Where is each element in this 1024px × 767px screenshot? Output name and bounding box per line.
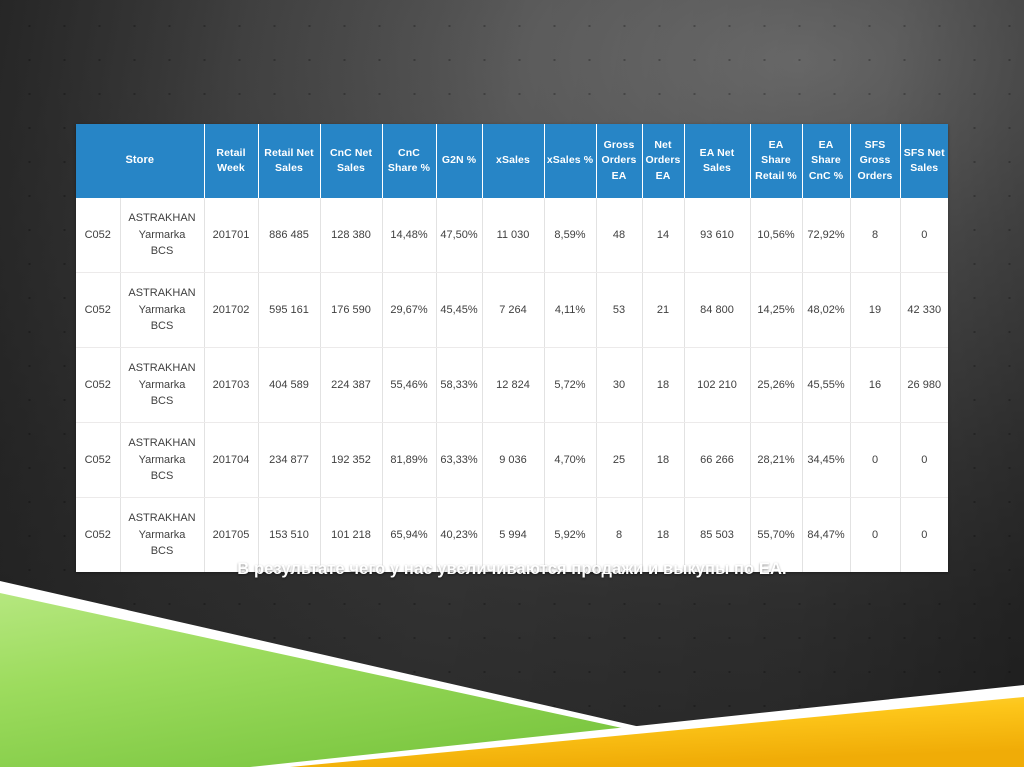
cell-xsales: 9 036: [482, 423, 544, 498]
slide-caption: В результате чего у нас увеличиваются пр…: [0, 560, 1024, 579]
cell-xsales-pct: 5,72%: [544, 348, 596, 423]
cell-sfs-net-sales: 42 330: [900, 273, 948, 348]
table-row: C052 ASTRAKHAN Yarmarka BCS 201701 886 4…: [76, 198, 948, 273]
cell-ea-share-cnc-pct: 34,45%: [802, 423, 850, 498]
cell-sfs-net-sales: 0: [900, 423, 948, 498]
column-header-ea-net-sales[interactable]: EA Net Sales: [684, 124, 750, 198]
decorative-triangles: [0, 567, 1024, 767]
column-header-cnc-net-sales[interactable]: CnC Net Sales: [320, 124, 382, 198]
cell-sfs-gross-orders: 8: [850, 198, 900, 273]
slide-canvas: Store Retail Week Retail Net Sales CnC N…: [0, 0, 1024, 767]
column-header-store[interactable]: Store: [76, 124, 204, 198]
cell-retail-week: 201704: [204, 423, 258, 498]
cell-net-orders-ea: 18: [642, 423, 684, 498]
cell-sfs-gross-orders: 19: [850, 273, 900, 348]
cell-store-code: C052: [76, 423, 120, 498]
cell-store-name: ASTRAKHAN Yarmarka BCS: [120, 423, 204, 498]
cell-gross-orders-ea: 48: [596, 198, 642, 273]
column-header-ea-share-retail-pct[interactable]: EA Share Retail %: [750, 124, 802, 198]
cell-ea-share-cnc-pct: 48,02%: [802, 273, 850, 348]
cell-cnc-net-sales: 128 380: [320, 198, 382, 273]
data-table-container: Store Retail Week Retail Net Sales CnC N…: [76, 124, 948, 572]
cell-ea-share-retail-pct: 10,56%: [750, 198, 802, 273]
cell-store-name: ASTRAKHAN Yarmarka BCS: [120, 273, 204, 348]
cell-g2n-pct: 47,50%: [436, 198, 482, 273]
table-row: C052 ASTRAKHAN Yarmarka BCS 201703 404 5…: [76, 348, 948, 423]
cell-g2n-pct: 45,45%: [436, 273, 482, 348]
column-header-xsales[interactable]: xSales: [482, 124, 544, 198]
cell-net-orders-ea: 18: [642, 348, 684, 423]
cell-ea-share-retail-pct: 14,25%: [750, 273, 802, 348]
cell-ea-share-cnc-pct: 72,92%: [802, 198, 850, 273]
cell-store-code: C052: [76, 348, 120, 423]
cell-net-orders-ea: 21: [642, 273, 684, 348]
cell-gross-orders-ea: 25: [596, 423, 642, 498]
decorative-triangles-svg: [0, 567, 1024, 767]
cell-ea-share-retail-pct: 28,21%: [750, 423, 802, 498]
cell-ea-net-sales: 102 210: [684, 348, 750, 423]
cell-ea-net-sales: 93 610: [684, 198, 750, 273]
cell-g2n-pct: 63,33%: [436, 423, 482, 498]
cell-cnc-share-pct: 81,89%: [382, 423, 436, 498]
cell-xsales: 7 264: [482, 273, 544, 348]
cell-xsales-pct: 4,70%: [544, 423, 596, 498]
cell-store-name: ASTRAKHAN Yarmarka BCS: [120, 348, 204, 423]
cell-cnc-net-sales: 176 590: [320, 273, 382, 348]
cell-gross-orders-ea: 30: [596, 348, 642, 423]
cell-sfs-net-sales: 26 980: [900, 348, 948, 423]
column-header-xsales-pct[interactable]: xSales %: [544, 124, 596, 198]
cell-ea-net-sales: 66 266: [684, 423, 750, 498]
cell-retail-week: 201701: [204, 198, 258, 273]
cell-xsales-pct: 4,11%: [544, 273, 596, 348]
cell-cnc-share-pct: 14,48%: [382, 198, 436, 273]
table-row: C052 ASTRAKHAN Yarmarka BCS 201702 595 1…: [76, 273, 948, 348]
column-header-ea-share-cnc-pct[interactable]: EA Share CnC %: [802, 124, 850, 198]
cell-store-code: C052: [76, 198, 120, 273]
cell-store-code: C052: [76, 273, 120, 348]
cell-xsales-pct: 8,59%: [544, 198, 596, 273]
column-header-cnc-share-pct[interactable]: CnC Share %: [382, 124, 436, 198]
cell-ea-share-retail-pct: 25,26%: [750, 348, 802, 423]
cell-sfs-gross-orders: 0: [850, 423, 900, 498]
column-header-retail-week[interactable]: Retail Week: [204, 124, 258, 198]
column-header-sfs-net-sales[interactable]: SFS Net Sales: [900, 124, 948, 198]
cell-cnc-net-sales: 192 352: [320, 423, 382, 498]
cell-sfs-gross-orders: 16: [850, 348, 900, 423]
cell-ea-share-cnc-pct: 45,55%: [802, 348, 850, 423]
column-header-retail-net-sales[interactable]: Retail Net Sales: [258, 124, 320, 198]
column-header-sfs-gross-orders[interactable]: SFS Gross Orders: [850, 124, 900, 198]
cell-retail-week: 201702: [204, 273, 258, 348]
cell-gross-orders-ea: 53: [596, 273, 642, 348]
column-header-gross-orders-ea[interactable]: Gross Orders EA: [596, 124, 642, 198]
table-header: Store Retail Week Retail Net Sales CnC N…: [76, 124, 948, 198]
cell-net-orders-ea: 14: [642, 198, 684, 273]
cell-xsales: 12 824: [482, 348, 544, 423]
cell-retail-net-sales: 886 485: [258, 198, 320, 273]
cell-retail-net-sales: 234 877: [258, 423, 320, 498]
column-header-g2n-pct[interactable]: G2N %: [436, 124, 482, 198]
column-header-net-orders-ea[interactable]: Net Orders EA: [642, 124, 684, 198]
cell-retail-week: 201703: [204, 348, 258, 423]
cell-g2n-pct: 58,33%: [436, 348, 482, 423]
cell-store-name: ASTRAKHAN Yarmarka BCS: [120, 198, 204, 273]
metrics-table: Store Retail Week Retail Net Sales CnC N…: [76, 124, 948, 572]
cell-ea-net-sales: 84 800: [684, 273, 750, 348]
table-body: C052 ASTRAKHAN Yarmarka BCS 201701 886 4…: [76, 198, 948, 572]
cell-sfs-net-sales: 0: [900, 198, 948, 273]
table-row: C052 ASTRAKHAN Yarmarka BCS 201704 234 8…: [76, 423, 948, 498]
cell-cnc-share-pct: 55,46%: [382, 348, 436, 423]
cell-retail-net-sales: 404 589: [258, 348, 320, 423]
cell-cnc-net-sales: 224 387: [320, 348, 382, 423]
table-header-row: Store Retail Week Retail Net Sales CnC N…: [76, 124, 948, 198]
cell-retail-net-sales: 595 161: [258, 273, 320, 348]
cell-xsales: 11 030: [482, 198, 544, 273]
cell-cnc-share-pct: 29,67%: [382, 273, 436, 348]
